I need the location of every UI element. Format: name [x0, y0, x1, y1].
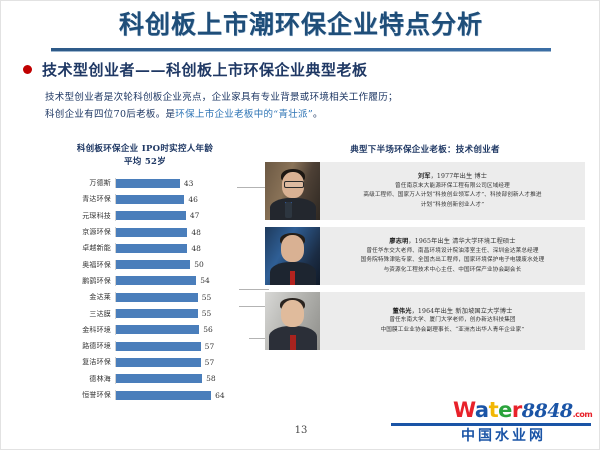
logo-wordmark: Water8848.com — [453, 399, 593, 426]
chart-bar-fill — [116, 179, 180, 188]
chart-bar-track: 64 — [115, 390, 261, 400]
chart-bar-value: 57 — [205, 342, 215, 351]
chart-bar-label: 青达环保 — [29, 194, 115, 204]
chart-bar-row: 元琛科技47 — [29, 208, 261, 224]
chart-bar-fill — [116, 325, 199, 334]
chart-bar-value: 43 — [184, 179, 194, 188]
profile-line: 曾任东南大学、厦门大学老师，创办新达科技集团 — [389, 316, 515, 326]
chart-bar-label: 万德斯 — [29, 178, 115, 188]
chart-bar-row: 恒誉环保64 — [29, 387, 261, 403]
chart-bar-label: 金达莱 — [29, 292, 115, 302]
chart-bar-row: 三达膜55 — [29, 305, 261, 321]
chart-bar-label: 金科环境 — [29, 325, 115, 335]
chart-bar-value: 54 — [200, 276, 210, 285]
profile-line: 与资源化工程技术中心主任、中国环保产业协会副会长 — [384, 266, 522, 276]
chart-bar-fill — [116, 195, 184, 204]
chart-bar-track: 48 — [115, 243, 261, 253]
chart-bar-track: 57 — [115, 341, 261, 351]
chart-bar-fill — [116, 342, 201, 351]
chart-bar-fill — [116, 260, 190, 269]
lead-line-1: 技术型创业者是次轮科创板企业亮点，企业家具有专业背景或环境相关工作履历； — [45, 89, 565, 106]
logo-letter-e: e — [498, 398, 512, 422]
chart-bar-fill — [116, 293, 198, 302]
chart-bar-value: 58 — [206, 374, 216, 383]
logo-letter-w: W — [453, 398, 475, 422]
chart-bar-track: 47 — [115, 211, 261, 221]
chart-bar-label: 路德环境 — [29, 341, 115, 351]
chart-bar-track: 55 — [115, 292, 261, 302]
profile-headline-rest: ，1964年出生 新加坡国立大学博士 — [412, 308, 513, 315]
bullet-dot-icon — [23, 65, 32, 74]
profile-card[interactable]: 董伟光，1964年出生 新加坡国立大学博士 曾任东南大学、厦门大学老师，创办新达… — [265, 292, 585, 350]
title-divider-thin — [51, 51, 551, 52]
logo-letter-r: r — [512, 398, 522, 422]
logo-dotcom: .com — [573, 410, 593, 419]
chart-bar-value: 55 — [202, 293, 212, 302]
chart-bar-fill — [116, 309, 198, 318]
profile-text: 董伟光，1964年出生 新加坡国立大学博士 曾任东南大学、厦门大学老师，创办新达… — [320, 292, 585, 350]
logo-letter-a: a — [475, 398, 489, 422]
profile-name: 廖志明 — [389, 238, 408, 245]
chart-bar-value: 50 — [194, 260, 204, 269]
chart-bar-row: 奥福环保50 — [29, 256, 261, 272]
chart-bar-track: 58 — [115, 374, 261, 384]
chart-bar-value: 56 — [203, 325, 213, 334]
chart-bar-row: 万德斯43 — [29, 175, 261, 191]
chart-bar-track: 56 — [115, 325, 261, 335]
profile-headline-rest: ，1977年出生 博士 — [431, 173, 488, 180]
chart-bar-fill — [116, 276, 196, 285]
chart-bar-row: 鹏鹞环保54 — [29, 273, 261, 289]
chart-title: 科创板环保企业 IPO时实控人年龄 平均 52岁 — [29, 143, 261, 169]
chart-bar-label: 德林海 — [29, 374, 115, 384]
profile-line: 国务院特殊津贴专家、全国杰出工程师，国家环境保护电子电镀废水处理 — [361, 256, 545, 266]
chart-bar-value: 46 — [188, 195, 198, 204]
portrait-liao-zhiming — [265, 227, 320, 285]
profiles-panel: 典型下半场环保企业老板：技术创业者 刘军，1977年出生 博士 曾任南京末大能源… — [265, 143, 585, 357]
lead-line-2: 科创企业有四位70后老板。是环保上市企业老板中的“青壮派”。 — [45, 106, 565, 123]
chart-bar-track: 57 — [115, 357, 261, 367]
chart-title-line-1: 科创板环保企业 IPO时实控人年龄 — [29, 143, 261, 156]
chart-bar-row: 德林海58 — [29, 371, 261, 387]
profile-line: 曾任南京末大能源环保工程有限公司区域经理 — [395, 182, 510, 192]
profile-headline-rest: ，1965年出生 清华大学环境工程硕士 — [408, 238, 515, 245]
chart-bar-track: 55 — [115, 309, 261, 319]
lead-line-2-highlight: 环保上市企业老板中的“青壮派” — [175, 109, 313, 120]
chart-bar-label: 奥福环保 — [29, 260, 115, 270]
profile-headline: 董伟光，1964年出生 新加坡国立大学博士 — [393, 307, 513, 317]
logo-number: 8848 — [522, 400, 573, 422]
chart-bar-value: 48 — [191, 228, 201, 237]
profile-card[interactable]: 廖志明，1965年出生 清华大学环境工程硕士 曾任华东交大老师、南昌环境设计院油… — [265, 227, 585, 285]
chart-bar-label: 京源环保 — [29, 227, 115, 237]
chart-bar-fill — [116, 374, 202, 383]
profile-text: 廖志明，1965年出生 清华大学环境工程硕士 曾任华东交大老师、南昌环境设计院油… — [320, 227, 585, 285]
profile-name: 董伟光 — [393, 308, 412, 315]
chart-bar-value: 64 — [215, 391, 225, 400]
chart-bar-fill — [116, 244, 187, 253]
chart-bar-label: 恒誉环保 — [29, 390, 115, 400]
chart-bar-fill — [116, 358, 201, 367]
lead-line-2-a: 科创企业有四位70后老板。是 — [45, 109, 175, 120]
portrait-dong-weiguang — [265, 292, 320, 350]
chart-bar-label: 元琛科技 — [29, 211, 115, 221]
chart-bar-row: 金达莱55 — [29, 289, 261, 305]
bullet-heading-label: 技术型创业者——科创板上市环保企业典型老板 — [42, 59, 368, 80]
logo-chinese-name: 中国水业网 — [461, 425, 546, 445]
chart-bar-row: 路德环境57 — [29, 338, 261, 354]
portrait-liu-jun — [265, 162, 320, 220]
profile-line: 曾任华东交大老师、南昌环境设计院油漆室主任、深圳金达莱总经理 — [366, 247, 538, 257]
chart-bar-track: 50 — [115, 260, 261, 270]
chart-bar-label: 卓越新能 — [29, 243, 115, 253]
slide-canvas: 科创板上市潮环保企业特点分析 技术型创业者——科创板上市环保企业典型老板 技术型… — [0, 0, 600, 450]
chart-bar-fill — [116, 211, 186, 220]
chart-bar-track: 46 — [115, 194, 261, 204]
age-bar-chart: 科创板环保企业 IPO时实控人年龄 平均 52岁 万德斯43青达环保46元琛科技… — [29, 143, 261, 401]
chart-bar-row: 京源环保48 — [29, 224, 261, 240]
chart-bar-row: 卓越新能48 — [29, 240, 261, 256]
profile-line: 计划“科技创新创业人才” — [421, 201, 484, 211]
chart-bar-label: 复洁环保 — [29, 357, 115, 367]
chart-bar-track: 54 — [115, 276, 261, 286]
lead-line-2-b: 。 — [313, 109, 323, 120]
chart-bar-value: 47 — [190, 211, 200, 220]
profile-headline: 廖志明，1965年出生 清华大学环境工程硕士 — [389, 237, 515, 247]
chart-bar-label: 鹏鹞环保 — [29, 276, 115, 286]
bullet-heading: 技术型创业者——科创板上市环保企业典型老板 — [23, 57, 583, 81]
title-area: 科创板上市潮环保企业特点分析 — [1, 9, 600, 41]
chart-bar-track: 48 — [115, 227, 261, 237]
chart-bar-label: 三达膜 — [29, 309, 115, 319]
chart-bar-value: 48 — [191, 244, 201, 253]
chart-title-line-2: 平均 52岁 — [29, 156, 261, 169]
lead-paragraph: 技术型创业者是次轮科创板企业亮点，企业家具有专业背景或环境相关工作履历； 科创企… — [45, 89, 565, 123]
logo-letter-t: t — [489, 398, 499, 422]
page-title: 科创板上市潮环保企业特点分析 — [1, 9, 600, 41]
profile-text: 刘军，1977年出生 博士 曾任南京末大能源环保工程有限公司区域经理 高级工程师… — [320, 162, 585, 220]
profile-card[interactable]: 刘军，1977年出生 博士 曾任南京末大能源环保工程有限公司区域经理 高级工程师… — [265, 162, 585, 220]
profile-line: 中国膜工业业协会副理事长、“亚洲杰出华人青年企业家” — [381, 326, 525, 336]
chart-bar-fill — [116, 228, 187, 237]
water8848-logo: Water8848.com 中国水业网 — [453, 399, 593, 447]
chart-bar-row: 金科环境56 — [29, 322, 261, 338]
profile-line: 高级工程师、国家万人计划“科技创业领军人才”、科技部创新人才推进 — [363, 191, 541, 201]
chart-bar-row: 复洁环保57 — [29, 354, 261, 370]
profile-headline: 刘军，1977年出生 博士 — [418, 172, 487, 182]
chart-plot-area: 万德斯43青达环保46元琛科技47京源环保48卓越新能48奥福环保50鹏鹞环保5… — [29, 175, 261, 403]
chart-bar-value: 55 — [202, 309, 212, 318]
chart-bar-value: 57 — [205, 358, 215, 367]
chart-bar-row: 青达环保46 — [29, 191, 261, 207]
profiles-title: 典型下半场环保企业老板：技术创业者 — [265, 143, 585, 155]
chart-bar-fill — [116, 391, 211, 400]
profile-name: 刘军 — [418, 173, 431, 180]
